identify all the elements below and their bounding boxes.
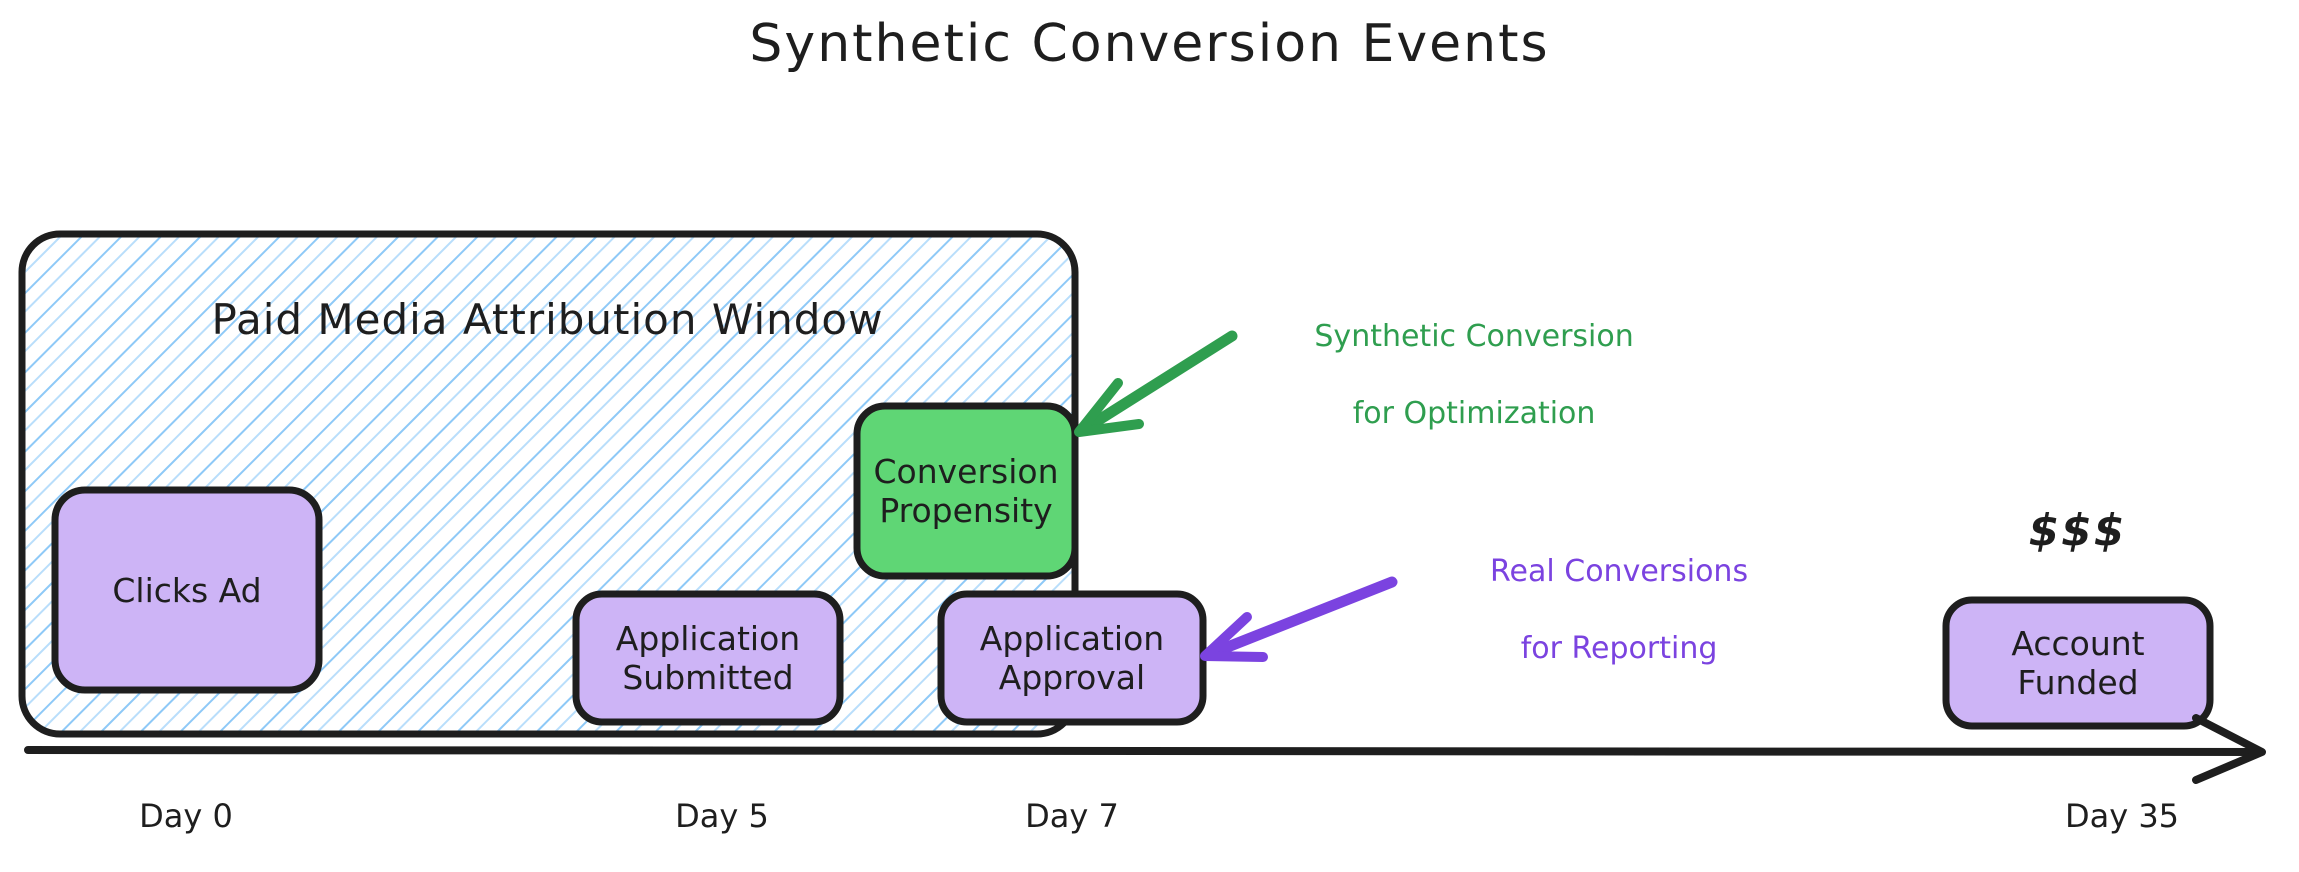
node-application-submitted[interactable] [576,594,840,722]
annotation-real-conversions: Real Conversions for Reporting [1405,515,1795,707]
node-application-approval[interactable] [941,594,1203,722]
diagram-vector-layer [0,0,2299,872]
timeline-axis-line [28,750,2258,752]
arrow-real-conversions-shaft [1210,582,1392,654]
node-application-submitted-shape[interactable] [576,594,840,722]
node-conversion-propensity[interactable] [857,406,1075,576]
timeline-tick-day-5: Day 5 [675,798,769,836]
attribution-window-label: Paid Media Attribution Window [20,295,1075,345]
annotation-real-conversions-line1: Real Conversions [1490,554,1748,589]
arrow-synthetic-conversion-shaft [1083,336,1232,430]
node-account-funded-shape[interactable] [1946,600,2210,726]
node-application-approval-shape[interactable] [941,594,1203,722]
node-clicks-ad[interactable] [55,490,319,690]
annotation-synthetic-conversion: Synthetic Conversion for Optimization [1245,280,1665,472]
arrow-real-conversions [1205,582,1392,657]
node-conversion-propensity-shape[interactable] [857,406,1075,576]
money-marker: $$$ [1945,505,2210,557]
diagram-canvas: Synthetic Conversion Events [0,0,2299,872]
timeline-tick-day-0: Day 0 [139,798,233,836]
annotation-synthetic-conversion-line2: for Optimization [1353,396,1596,431]
annotation-real-conversions-line2: for Reporting [1521,631,1718,666]
node-account-funded[interactable] [1946,600,2210,726]
timeline-tick-day-7: Day 7 [1025,798,1119,836]
arrow-synthetic-conversion [1079,336,1232,432]
node-clicks-ad-shape[interactable] [55,490,319,690]
timeline-tick-day-35: Day 35 [2065,798,2179,836]
annotation-synthetic-conversion-line1: Synthetic Conversion [1314,319,1633,354]
